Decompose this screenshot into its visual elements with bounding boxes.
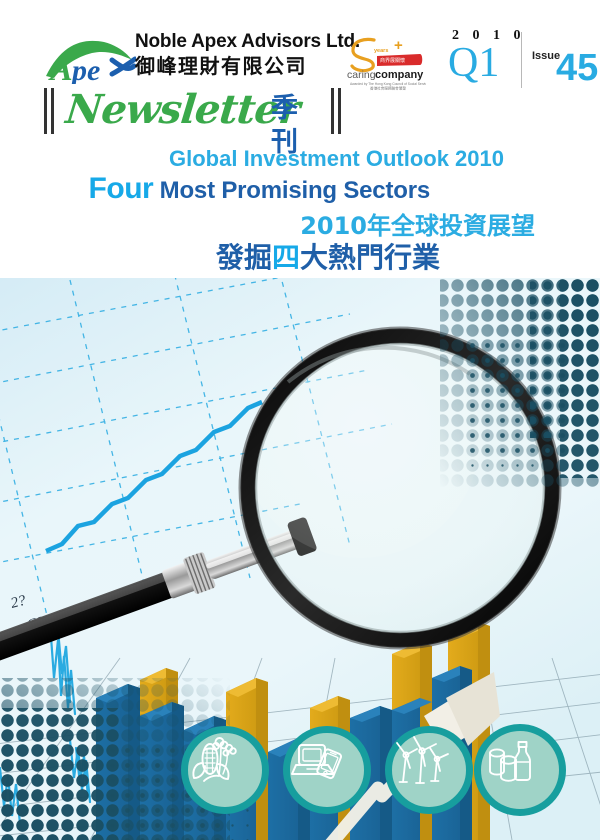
technology-icon[interactable]: [283, 726, 371, 814]
quarter-label: Q1: [448, 41, 499, 85]
svg-text:+: +: [394, 37, 403, 54]
company-name-block: Noble Apex Advisors Ltd. 御峰理財有限公司: [135, 31, 360, 78]
masthead-script: Newsletter: [63, 86, 301, 134]
masthead-rule-right-inner: [331, 88, 334, 134]
masthead-rule-left-inner: [51, 88, 54, 134]
consumer-goods-icon[interactable]: [474, 724, 566, 816]
masthead-rule-left-outer: [44, 88, 47, 134]
headline-four-zh: 四: [272, 241, 300, 274]
svg-text:pe: pe: [69, 54, 100, 84]
headline-line-1: Global Investment Outlook 2010: [0, 146, 504, 172]
agriculture-icon[interactable]: [181, 726, 269, 814]
company-name-zh: 御峰理財有限公司: [135, 54, 360, 78]
issue-divider: [521, 32, 522, 88]
svg-text:years: years: [374, 48, 388, 54]
svg-text:商界展關懷: 商界展關懷: [380, 57, 405, 64]
headline-line-4-post: 大熱門行業: [300, 241, 440, 274]
company-name-en: Noble Apex Advisors Ltd.: [135, 31, 360, 53]
svg-text:香港社會服務聯會頒發: 香港社會服務聯會頒發: [370, 86, 406, 91]
svg-text:A: A: [48, 51, 73, 84]
issue-block: 2 0 1 0 Q1 Issue 45: [448, 28, 593, 90]
headline-line-4-zh: 發掘四大熱門行業: [0, 236, 440, 276]
apex-logo: A pe: [44, 36, 136, 84]
cover-hero-image: 2? C?: [0, 278, 600, 840]
issue-number: 45: [556, 48, 598, 88]
masthead-rule-right-outer: [338, 88, 341, 134]
caring-company-logo: years + 商界展關懷 caring company Awarded by …: [344, 36, 426, 92]
svg-text:company: company: [375, 69, 424, 81]
svg-text:Awarded by The Hong Kong Counc: Awarded by The Hong Kong Council of Soci…: [350, 82, 426, 86]
headline-line-2: Four Most Promising Sectors: [0, 172, 430, 206]
wind-energy-icon[interactable]: [385, 726, 473, 814]
newsletter-cover: A pe Noble Apex Advisors Ltd. 御峰理財有限公司 y…: [0, 0, 600, 840]
svg-text:caring: caring: [347, 69, 376, 81]
headline-line-4-pre: 發掘: [216, 241, 272, 274]
sector-icons: [0, 722, 600, 822]
cover-headline: Global Investment Outlook 2010 Four Most…: [0, 146, 600, 272]
headline-line-2-rest: Most Promising Sectors: [153, 177, 430, 204]
cover-header: A pe Noble Apex Advisors Ltd. 御峰理財有限公司 y…: [0, 0, 600, 278]
headline-four-word: Four: [89, 172, 154, 205]
